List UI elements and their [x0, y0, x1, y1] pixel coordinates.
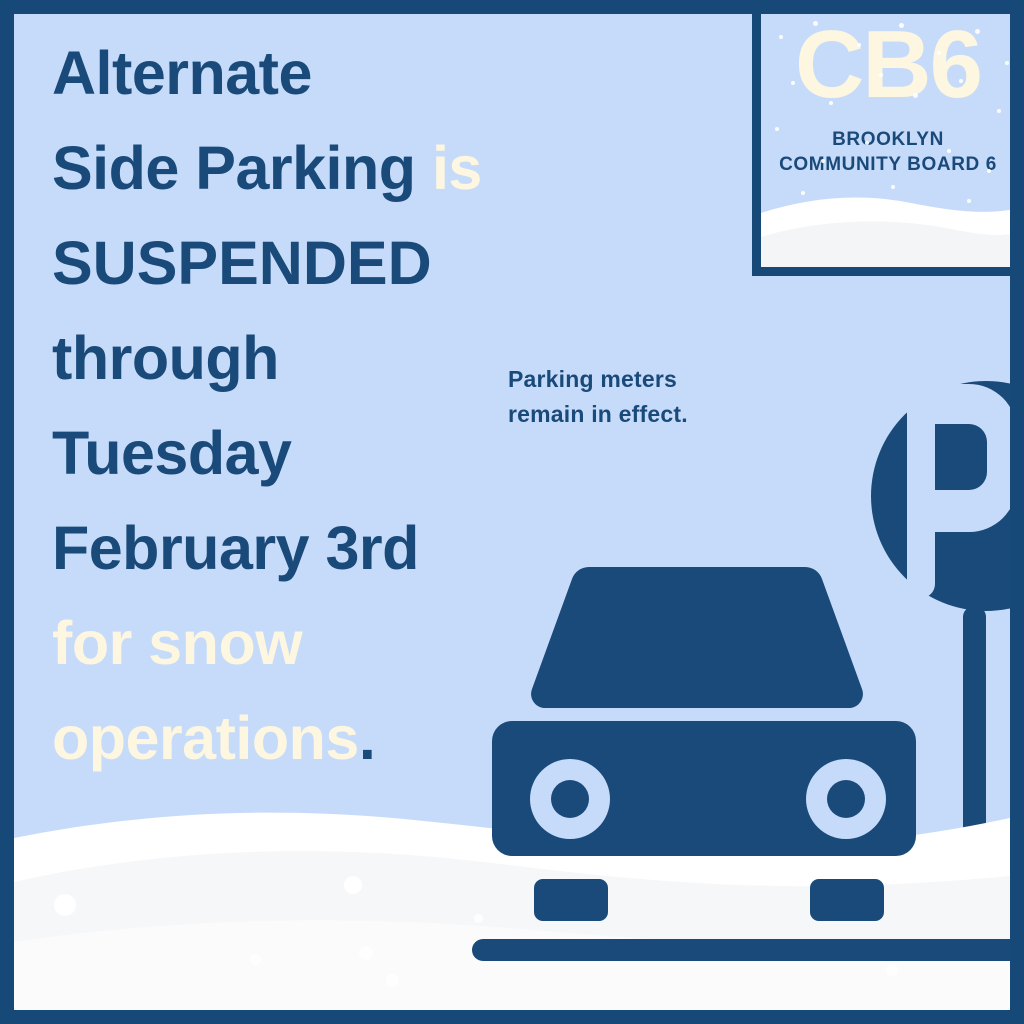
headline-line-5: Tuesday: [52, 406, 572, 501]
snowflake: [937, 51, 941, 55]
snow-drift-front: [14, 890, 1010, 1010]
snowflake: [791, 81, 795, 85]
snowflake: [947, 149, 951, 153]
snowflake: [997, 109, 1001, 113]
poster-inner-canvas: Alternate Side Parking is SUSPENDED thro…: [14, 14, 1010, 1010]
snowflake: [1005, 61, 1009, 65]
headline-line-4: through: [52, 311, 572, 406]
snowflake: [899, 23, 904, 28]
headline-period: .: [359, 704, 375, 772]
snowflake: [821, 159, 825, 163]
headline-line-2-emphasis: is: [432, 134, 482, 202]
headline-line-8: operations.: [52, 691, 572, 786]
headline-block: Alternate Side Parking is SUSPENDED thro…: [52, 26, 572, 786]
headline-line-2-main: Side Parking: [52, 134, 432, 202]
cb6-logo-box: CB6 BROOKLYN COMMUNITY BOARD 6: [752, 14, 1010, 276]
snowflake: [879, 73, 883, 77]
cb6-subtitle-line-1: BROOKLYN: [761, 127, 1010, 152]
poster-canvas: Alternate Side Parking is SUSPENDED thro…: [0, 0, 1024, 1024]
parking-meters-note-line-1: Parking meters: [508, 362, 788, 397]
snowflake: [987, 169, 991, 173]
cb6-wordmark: CB6: [761, 14, 1010, 117]
snowflake: [959, 79, 963, 83]
snowflake: [813, 21, 818, 26]
parking-sign-icon: [871, 381, 1010, 611]
car-roof: [531, 567, 863, 708]
snowflake: [344, 876, 362, 894]
snowflake: [829, 101, 833, 105]
snowflake: [886, 964, 898, 976]
snowflake: [54, 894, 76, 916]
parking-meters-note-line-2: remain in effect.: [508, 397, 788, 432]
headline-line-3: SUSPENDED: [52, 216, 572, 311]
snowflake: [913, 93, 918, 98]
snowflake: [775, 127, 779, 131]
headline-line-8-text: operations: [52, 704, 359, 772]
headline-line-7: for snow: [52, 596, 572, 691]
logo-snow-drift-front: [761, 211, 1010, 267]
headline-line-2: Side Parking is: [52, 121, 572, 216]
snowflake: [359, 946, 373, 960]
snowflake: [891, 185, 895, 189]
cb6-logo-inner: CB6 BROOKLYN COMMUNITY BOARD 6: [761, 14, 1010, 267]
snowflake: [474, 914, 483, 923]
headline-line-6: February 3rd: [52, 501, 572, 596]
snowflake: [975, 29, 980, 34]
snowflake: [386, 974, 399, 987]
snowflake: [857, 43, 861, 47]
snowflake: [967, 199, 971, 203]
snowflake: [779, 35, 783, 39]
snowflake: [250, 954, 261, 965]
cb6-subtitle: BROOKLYN COMMUNITY BOARD 6: [761, 127, 1010, 177]
cb6-subtitle-line-2: COMMUNITY BOARD 6: [761, 152, 1010, 177]
parking-meters-note: Parking meters remain in effect.: [508, 362, 788, 432]
snowflake: [801, 191, 805, 195]
headline-line-1: Alternate: [52, 26, 572, 121]
snowflake: [865, 141, 869, 145]
